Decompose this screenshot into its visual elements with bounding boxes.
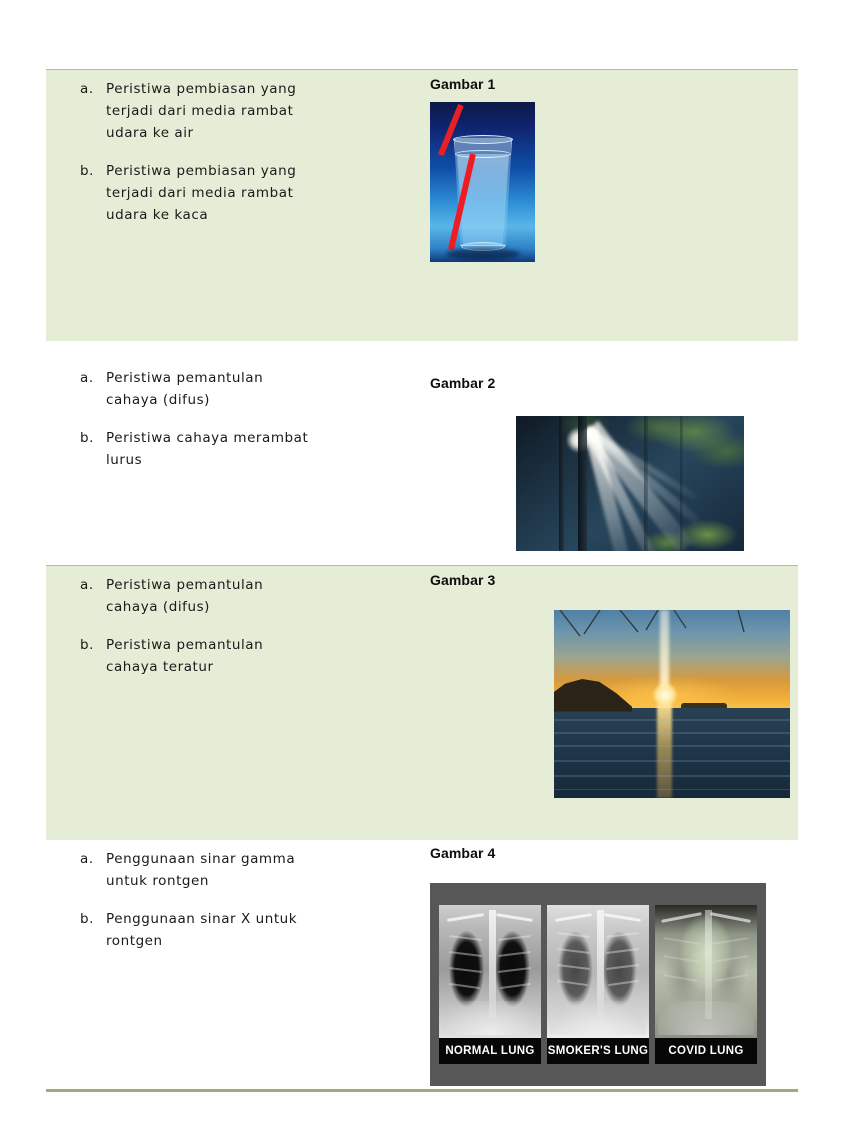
option-text: Peristiwa pemantulan cahaya (difus) (106, 574, 310, 618)
rib (449, 951, 482, 957)
option-marker: a. (80, 78, 106, 100)
option-text: Peristiwa pembiasan yang terjadi dari me… (106, 78, 310, 144)
xray-film (439, 905, 541, 1038)
option-item: b. Peristiwa pembiasan yang terjadi dari… (80, 160, 310, 226)
option-list-2: a. Peristiwa pemantulan cahaya (difus) b… (80, 367, 310, 471)
diaphragm (550, 1001, 646, 1036)
rib (449, 935, 482, 941)
xray-label: COVID LUNG (655, 1038, 757, 1064)
option-marker: b. (80, 908, 106, 930)
rib (712, 937, 749, 945)
option-item: b. Peristiwa cahaya merambat lurus (80, 427, 310, 471)
option-text: Peristiwa pembiasan yang terjadi dari me… (106, 160, 310, 226)
figure-caption: Gambar 1 (430, 76, 790, 92)
rib (557, 964, 590, 970)
rib (449, 983, 480, 989)
xray-panel-smoker: SMOKER'S LUNG (547, 905, 649, 1064)
option-marker: a. (80, 574, 106, 596)
rib (557, 980, 588, 986)
clavicle (604, 913, 641, 922)
figure-body: NORMAL LUNG (430, 871, 790, 1086)
option-item: a. Peristiwa pembiasan yang terjadi dari… (80, 78, 310, 144)
figure-body (430, 401, 790, 551)
rib (712, 955, 749, 963)
sea-ripple (554, 789, 790, 791)
glass-of-water-with-straw-refraction-photo (430, 102, 535, 262)
tree-trunk (578, 416, 587, 551)
rib (557, 948, 590, 954)
rib (606, 948, 639, 954)
option-text: Peristiwa pemantulan cahaya (difus) (106, 367, 310, 411)
xray-label: NORMAL LUNG (439, 1038, 541, 1064)
content-row-2: a. Peristiwa pemantulan cahaya (difus) b… (46, 341, 798, 565)
option-list-4: a. Penggunaan sinar gamma untuk rontgen … (80, 848, 310, 952)
overhead-wires (554, 610, 790, 651)
rib (449, 967, 482, 973)
water-surface-line (455, 150, 511, 158)
footer-divider (46, 1089, 798, 1092)
rib (663, 955, 700, 963)
clavicle (661, 912, 702, 923)
figure-1: Gambar 1 (430, 76, 790, 262)
option-text: Peristiwa cahaya merambat lurus (106, 427, 310, 471)
distant-islet (681, 703, 727, 708)
sea-ripple (554, 732, 790, 734)
clavicle (496, 913, 533, 922)
rib (557, 932, 590, 938)
rib (714, 974, 748, 982)
clavicle (447, 913, 484, 922)
sea-ripple (554, 760, 790, 762)
option-marker: b. (80, 427, 106, 449)
xray-panel-normal: NORMAL LUNG (439, 905, 541, 1064)
option-marker: a. (80, 367, 106, 389)
document-page: a. Peristiwa pembiasan yang terjadi dari… (0, 0, 850, 1128)
figure-4: Gambar 4 (430, 845, 790, 1086)
rib (500, 983, 531, 989)
rib (663, 974, 697, 982)
option-item: a. Peristiwa pemantulan cahaya (difus) (80, 367, 310, 411)
diaphragm (442, 1001, 538, 1036)
glass-shadow (446, 248, 520, 260)
option-text: Penggunaan sinar gamma untuk rontgen (106, 848, 310, 892)
rib (498, 951, 531, 957)
xray-label: SMOKER'S LUNG (547, 1038, 649, 1064)
option-list-3: a. Peristiwa pemantulan cahaya (difus) b… (80, 574, 310, 678)
clavicle (710, 912, 751, 923)
figure-caption: Gambar 4 (430, 845, 790, 861)
rib (498, 935, 531, 941)
chest-xray-comparison-photo: NORMAL LUNG (430, 883, 766, 1086)
sunset-over-sea-reflection-photo (554, 610, 790, 798)
option-marker: a. (80, 848, 106, 870)
xray-film (547, 905, 649, 1038)
clavicle (555, 913, 592, 922)
tree-trunk (680, 416, 683, 551)
tree-trunk (559, 416, 564, 551)
diaphragm (658, 1001, 754, 1036)
figure-caption: Gambar 2 (430, 375, 790, 391)
tree-trunk (644, 416, 648, 551)
option-item: b. Penggunaan sinar X untuk rontgen (80, 908, 310, 952)
xray-film (655, 905, 757, 1038)
rib (608, 980, 639, 986)
rib (663, 937, 700, 945)
sunbeams-through-forest-photo (516, 416, 744, 551)
sun-disc (653, 683, 677, 707)
figure-body (430, 102, 790, 262)
xray-panel-covid: COVID LUNG (655, 905, 757, 1064)
wires-svg (554, 610, 790, 652)
rib (606, 964, 639, 970)
option-item: a. Peristiwa pemantulan cahaya (difus) (80, 574, 310, 618)
option-item: a. Penggunaan sinar gamma untuk rontgen (80, 848, 310, 892)
option-marker: b. (80, 160, 106, 182)
content-row-3: a. Peristiwa pemantulan cahaya (difus) b… (46, 565, 798, 840)
sea-ripple (554, 745, 790, 747)
rib (498, 967, 531, 973)
figure-caption: Gambar 3 (430, 572, 790, 588)
sea-ripple (554, 775, 790, 777)
sea-ripple (554, 719, 790, 721)
option-marker: b. (80, 634, 106, 656)
figure-2: Gambar 2 (430, 375, 790, 551)
option-item: b. Peristiwa pemantulan cahaya teratur (80, 634, 310, 678)
content-row-1: a. Peristiwa pembiasan yang terjadi dari… (46, 69, 798, 341)
figure-body (430, 598, 790, 798)
figure-3: Gambar 3 (430, 572, 790, 798)
option-text: Penggunaan sinar X untuk rontgen (106, 908, 310, 952)
rib (606, 932, 639, 938)
option-text: Peristiwa pemantulan cahaya teratur (106, 634, 310, 678)
content-row-4: a. Penggunaan sinar gamma untuk rontgen … (46, 840, 798, 1089)
option-list-1: a. Peristiwa pembiasan yang terjadi dari… (80, 78, 310, 226)
